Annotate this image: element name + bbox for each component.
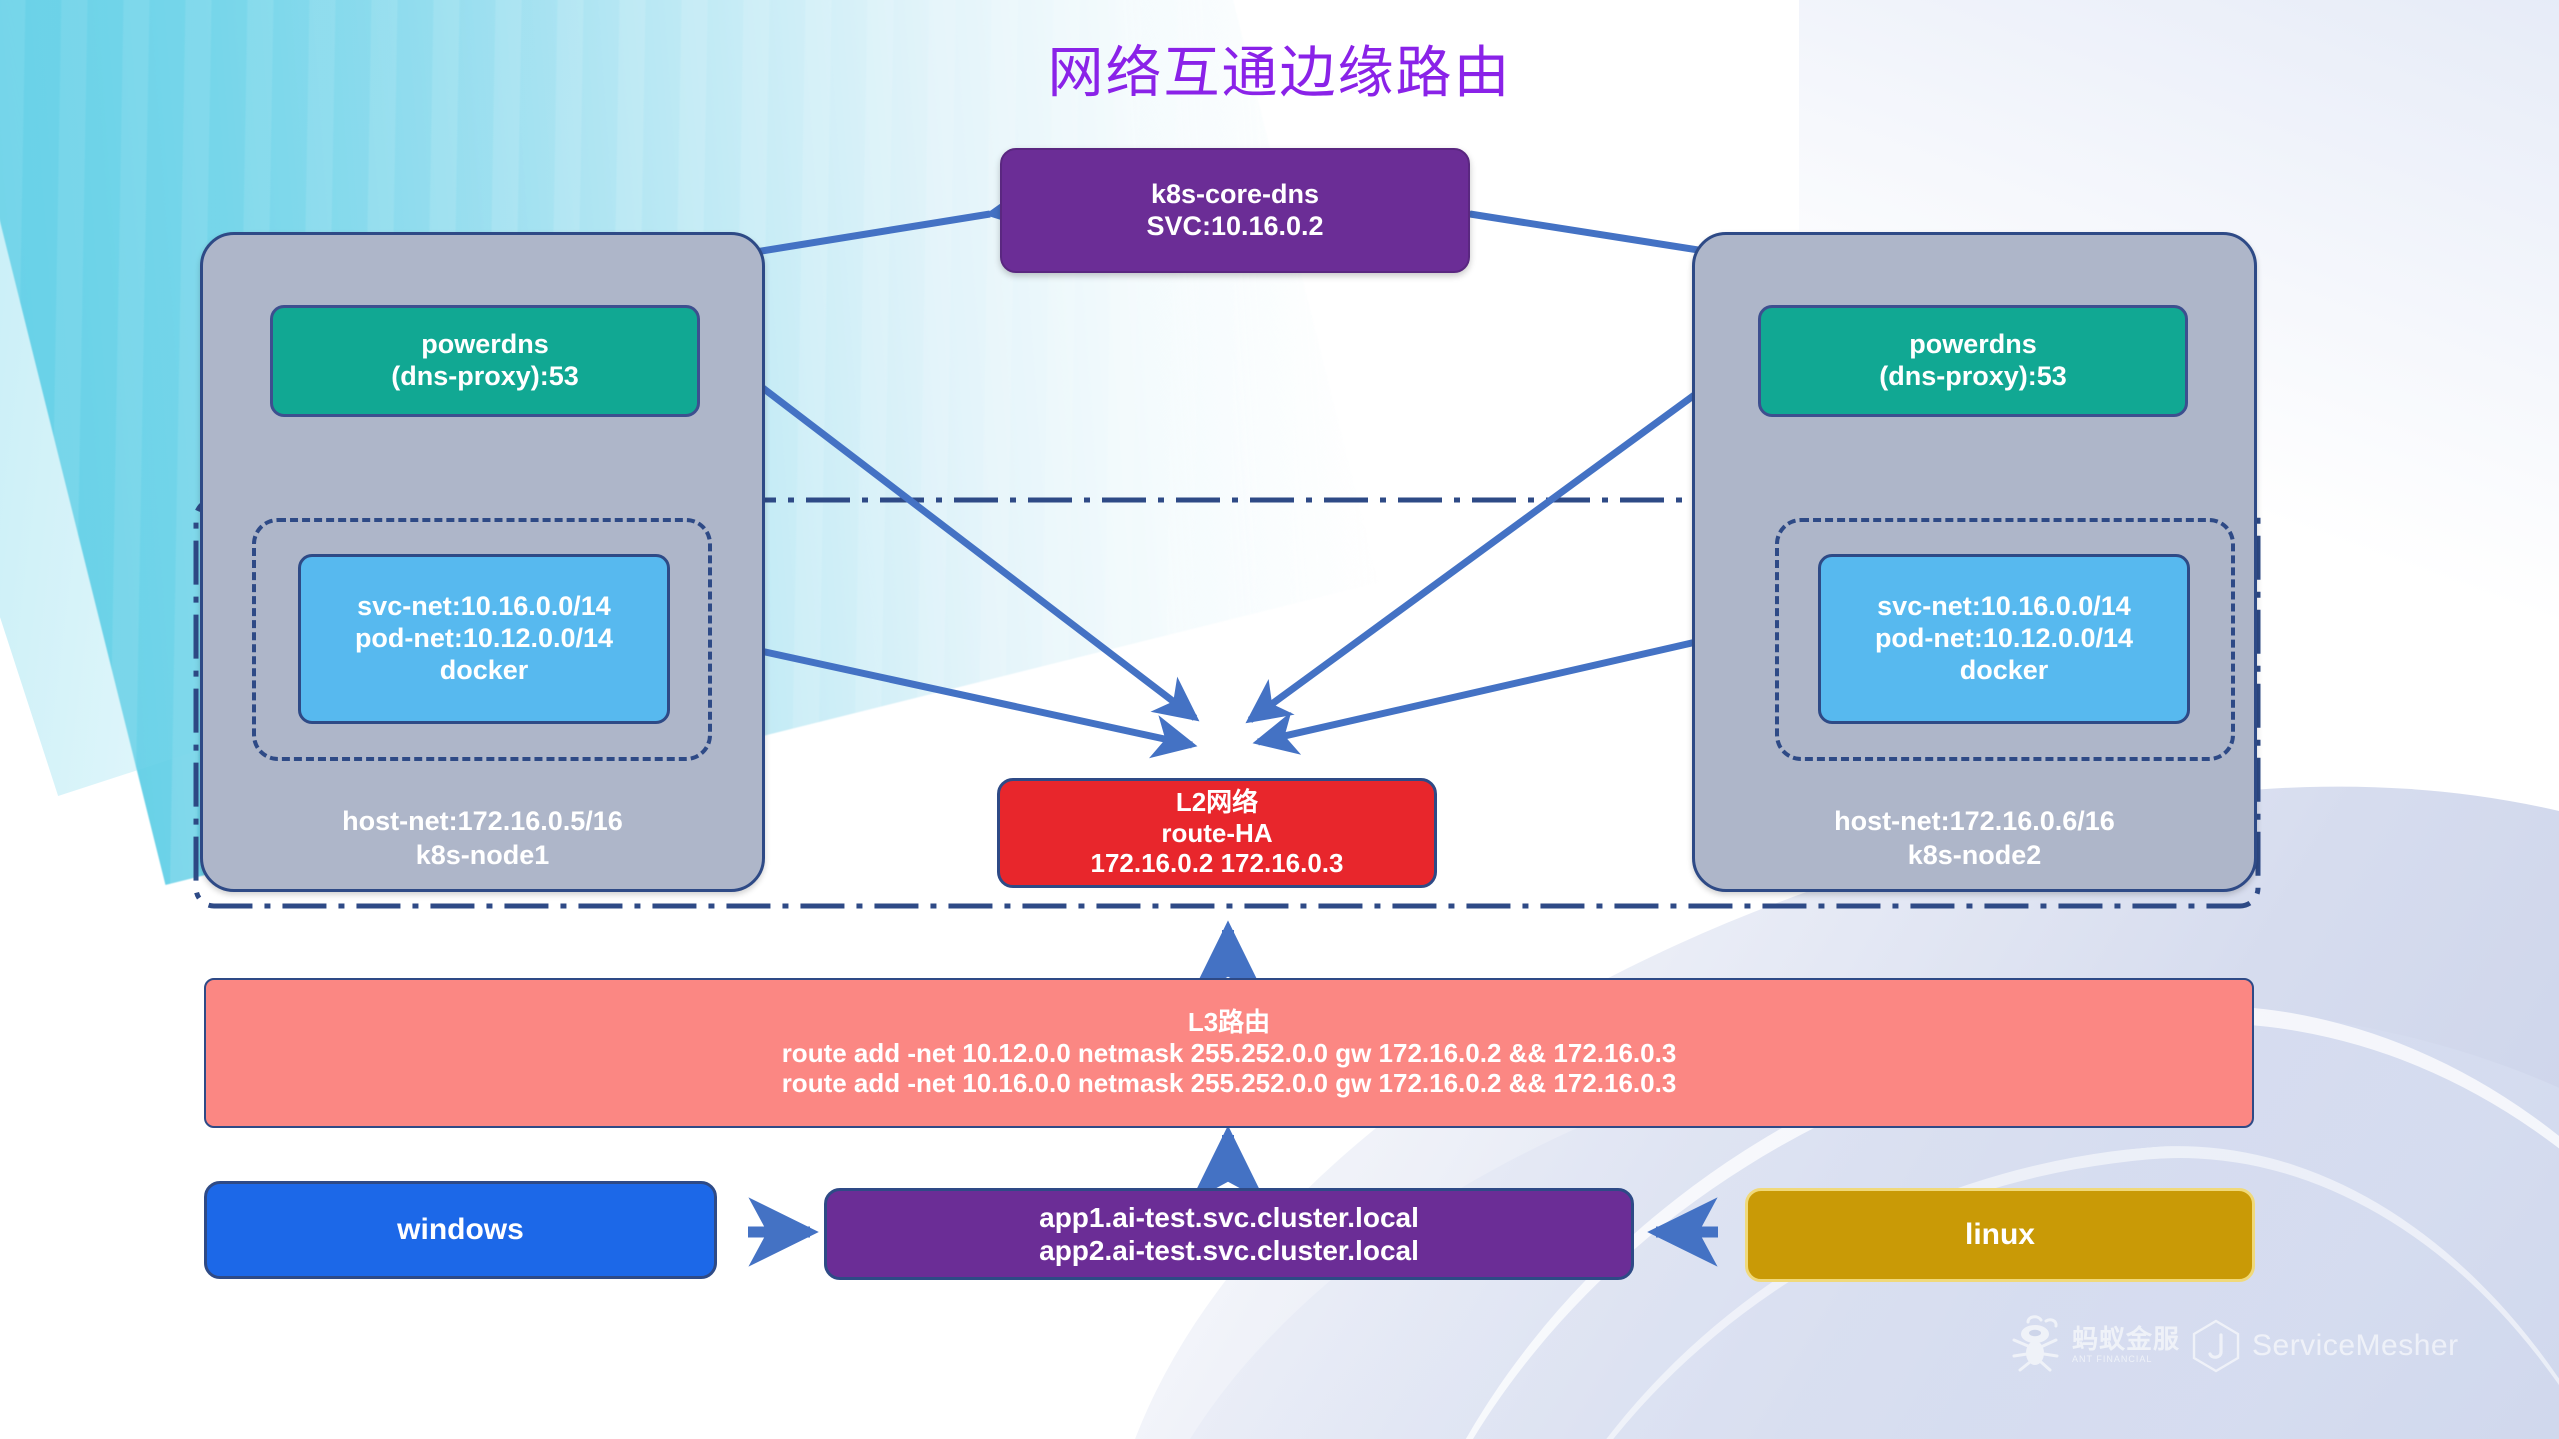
ant-logo-icon (2008, 1312, 2064, 1378)
l3-route-pod-net: route add -net 10.12.0.0 netmask 255.252… (782, 1038, 1677, 1069)
coredns-name: k8s-core-dns (1151, 179, 1319, 211)
windows-label: windows (397, 1212, 524, 1247)
docker-network-box-node2[interactable]: svc-net:10.16.0.0/14 pod-net:10.12.0.0/1… (1818, 554, 2190, 724)
powerdns-box-node2[interactable]: powerdns (dns-proxy):53 (1758, 305, 2188, 417)
node2-host-net: host-net:172.16.0.6/16 (1834, 806, 2115, 836)
k8s-core-dns-box[interactable]: k8s-core-dns SVC:10.16.0.2 (1000, 148, 1470, 273)
docker-label: docker (440, 655, 529, 687)
powerdns-box-node1[interactable]: powerdns (dns-proxy):53 (270, 305, 700, 417)
l3-route-svc-net: route add -net 10.16.0.0 netmask 255.252… (782, 1068, 1677, 1099)
k8s-node1-label: host-net:172.16.0.5/16 k8s-node1 (200, 805, 765, 873)
windows-client-box[interactable]: windows (204, 1181, 717, 1279)
pod-net-label: pod-net:10.12.0.0/14 (355, 623, 613, 655)
powerdns-name: powerdns (421, 329, 549, 361)
pod-net-label: pod-net:10.12.0.0/14 (1875, 623, 2133, 655)
app2-fqdn: app2.ai-test.svc.cluster.local (1039, 1234, 1419, 1267)
svc-net-label: svc-net:10.16.0.0/14 (1877, 591, 2131, 623)
l3-routing-box[interactable]: L3路由 route add -net 10.12.0.0 netmask 25… (204, 978, 2254, 1128)
node1-host-net: host-net:172.16.0.5/16 (342, 806, 623, 836)
docker-network-box-node1[interactable]: svc-net:10.16.0.0/14 pod-net:10.12.0.0/1… (298, 554, 670, 724)
node1-name: k8s-node1 (416, 840, 550, 870)
servicemesher-hexagon-icon (2190, 1318, 2242, 1374)
powerdns-name: powerdns (1909, 329, 2037, 361)
docker-label: docker (1960, 655, 2049, 687)
linux-client-box[interactable]: linux (1745, 1188, 2255, 1282)
ant-financial-cn: 蚂蚁金服 (2072, 1326, 2180, 1353)
diagram-canvas: 网络互通边缘路由 (0, 0, 2559, 1439)
l2-vips: 172.16.0.2 172.16.0.3 (1090, 848, 1343, 879)
k8s-node2-label: host-net:172.16.0.6/16 k8s-node2 (1692, 805, 2257, 873)
l2-network-box[interactable]: L2网络 route-HA 172.16.0.2 172.16.0.3 (997, 778, 1437, 888)
app1-fqdn: app1.ai-test.svc.cluster.local (1039, 1201, 1419, 1234)
powerdns-port: (dns-proxy):53 (1879, 361, 2067, 393)
servicemesher-watermark: ServiceMesher (2190, 1318, 2459, 1374)
page-title: 网络互通边缘路由 (0, 28, 2559, 109)
powerdns-port: (dns-proxy):53 (391, 361, 579, 393)
ant-financial-en: ANT FINANCIAL (2072, 1354, 2180, 1364)
app-services-box[interactable]: app1.ai-test.svc.cluster.local app2.ai-t… (824, 1188, 1634, 1280)
linux-label: linux (1965, 1217, 2035, 1252)
ant-financial-watermark: 蚂蚁金服 ANT FINANCIAL (2008, 1312, 2180, 1378)
servicemesher-label: ServiceMesher (2252, 1329, 2459, 1363)
l2-title: L2网络 (1176, 787, 1258, 818)
node2-name: k8s-node2 (1908, 840, 2042, 870)
svc-net-label: svc-net:10.16.0.0/14 (357, 591, 611, 623)
coredns-svc-ip: SVC:10.16.0.2 (1146, 211, 1323, 243)
l3-title: L3路由 (1188, 1007, 1270, 1038)
l2-route-ha: route-HA (1161, 818, 1272, 849)
